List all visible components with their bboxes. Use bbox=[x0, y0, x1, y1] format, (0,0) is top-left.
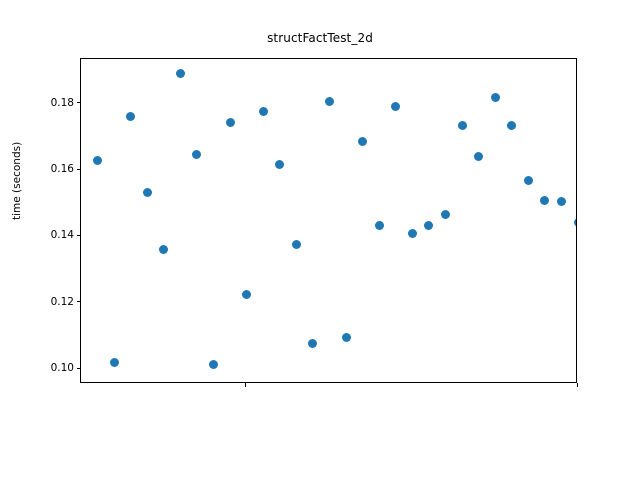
scatter-point bbox=[358, 137, 367, 146]
scatter-points-layer bbox=[81, 59, 576, 382]
scatter-point bbox=[226, 118, 235, 127]
scatter-point bbox=[259, 107, 268, 116]
chart-title: structFactTest_2d bbox=[0, 31, 640, 45]
matplotlib-figure: structFactTest_2d time (seconds) 0.180.1… bbox=[0, 0, 640, 480]
scatter-point bbox=[126, 112, 135, 121]
y-axis-tick-label: 0.18 bbox=[51, 97, 74, 109]
scatter-point bbox=[275, 160, 284, 169]
scatter-point bbox=[441, 210, 450, 219]
scatter-point bbox=[574, 218, 577, 227]
scatter-point bbox=[176, 69, 185, 78]
x-axis-tick-mark bbox=[577, 383, 578, 387]
plot-area bbox=[80, 58, 577, 383]
scatter-point bbox=[524, 176, 533, 185]
y-axis-label: time (seconds) bbox=[11, 142, 23, 220]
scatter-point bbox=[242, 290, 251, 299]
scatter-point bbox=[557, 197, 566, 206]
scatter-point bbox=[159, 245, 168, 254]
scatter-point bbox=[507, 121, 516, 130]
scatter-point bbox=[292, 240, 301, 249]
scatter-point bbox=[308, 339, 317, 348]
scatter-point bbox=[325, 97, 334, 106]
scatter-point bbox=[458, 121, 467, 130]
scatter-point bbox=[110, 358, 119, 367]
scatter-point bbox=[424, 221, 433, 230]
scatter-point bbox=[474, 152, 483, 161]
y-axis-tick-label: 0.10 bbox=[51, 362, 74, 374]
y-axis-tick-label: 0.14 bbox=[51, 229, 74, 241]
scatter-point bbox=[375, 221, 384, 230]
scatter-point bbox=[93, 156, 102, 165]
scatter-point bbox=[408, 229, 417, 238]
scatter-point bbox=[192, 150, 201, 159]
scatter-point bbox=[143, 188, 152, 197]
scatter-point bbox=[540, 196, 549, 205]
scatter-point bbox=[342, 333, 351, 342]
scatter-point bbox=[209, 360, 218, 369]
scatter-point bbox=[491, 93, 500, 102]
scatter-point bbox=[391, 102, 400, 111]
y-axis: time (seconds) 0.180.160.140.120.10 bbox=[0, 0, 80, 480]
x-axis-tick-mark bbox=[245, 383, 246, 387]
y-axis-tick-label: 0.16 bbox=[51, 163, 74, 175]
y-axis-tick-label: 0.12 bbox=[51, 296, 74, 308]
